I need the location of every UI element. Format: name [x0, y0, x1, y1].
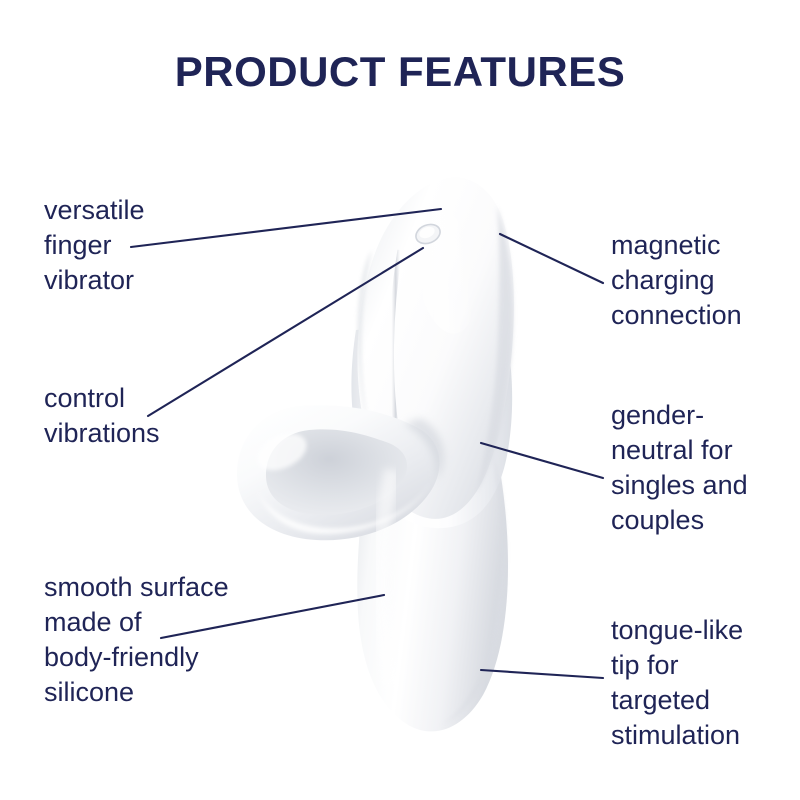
callout-tongue-like-tip: tongue-like tip for targeted stimulation	[611, 613, 800, 753]
callout-smooth-surface: smooth surface made of body-friendly sil…	[44, 570, 294, 710]
callout-magnetic-charging: magnetic charging connection	[611, 228, 800, 333]
callout-versatile-finger-vibrator: versatile finger vibrator	[44, 193, 274, 298]
callout-gender-neutral: gender- neutral for singles and couples	[611, 398, 800, 538]
leader-line-gender	[481, 443, 603, 478]
product-features-infographic: PRODUCT FEATURES versatile finger vibrat…	[0, 0, 800, 800]
page-title: PRODUCT FEATURES	[0, 48, 800, 96]
leader-line-magnetic	[500, 234, 603, 283]
callout-control-vibrations: control vibrations	[44, 381, 274, 451]
leader-line-tongue	[481, 670, 603, 678]
